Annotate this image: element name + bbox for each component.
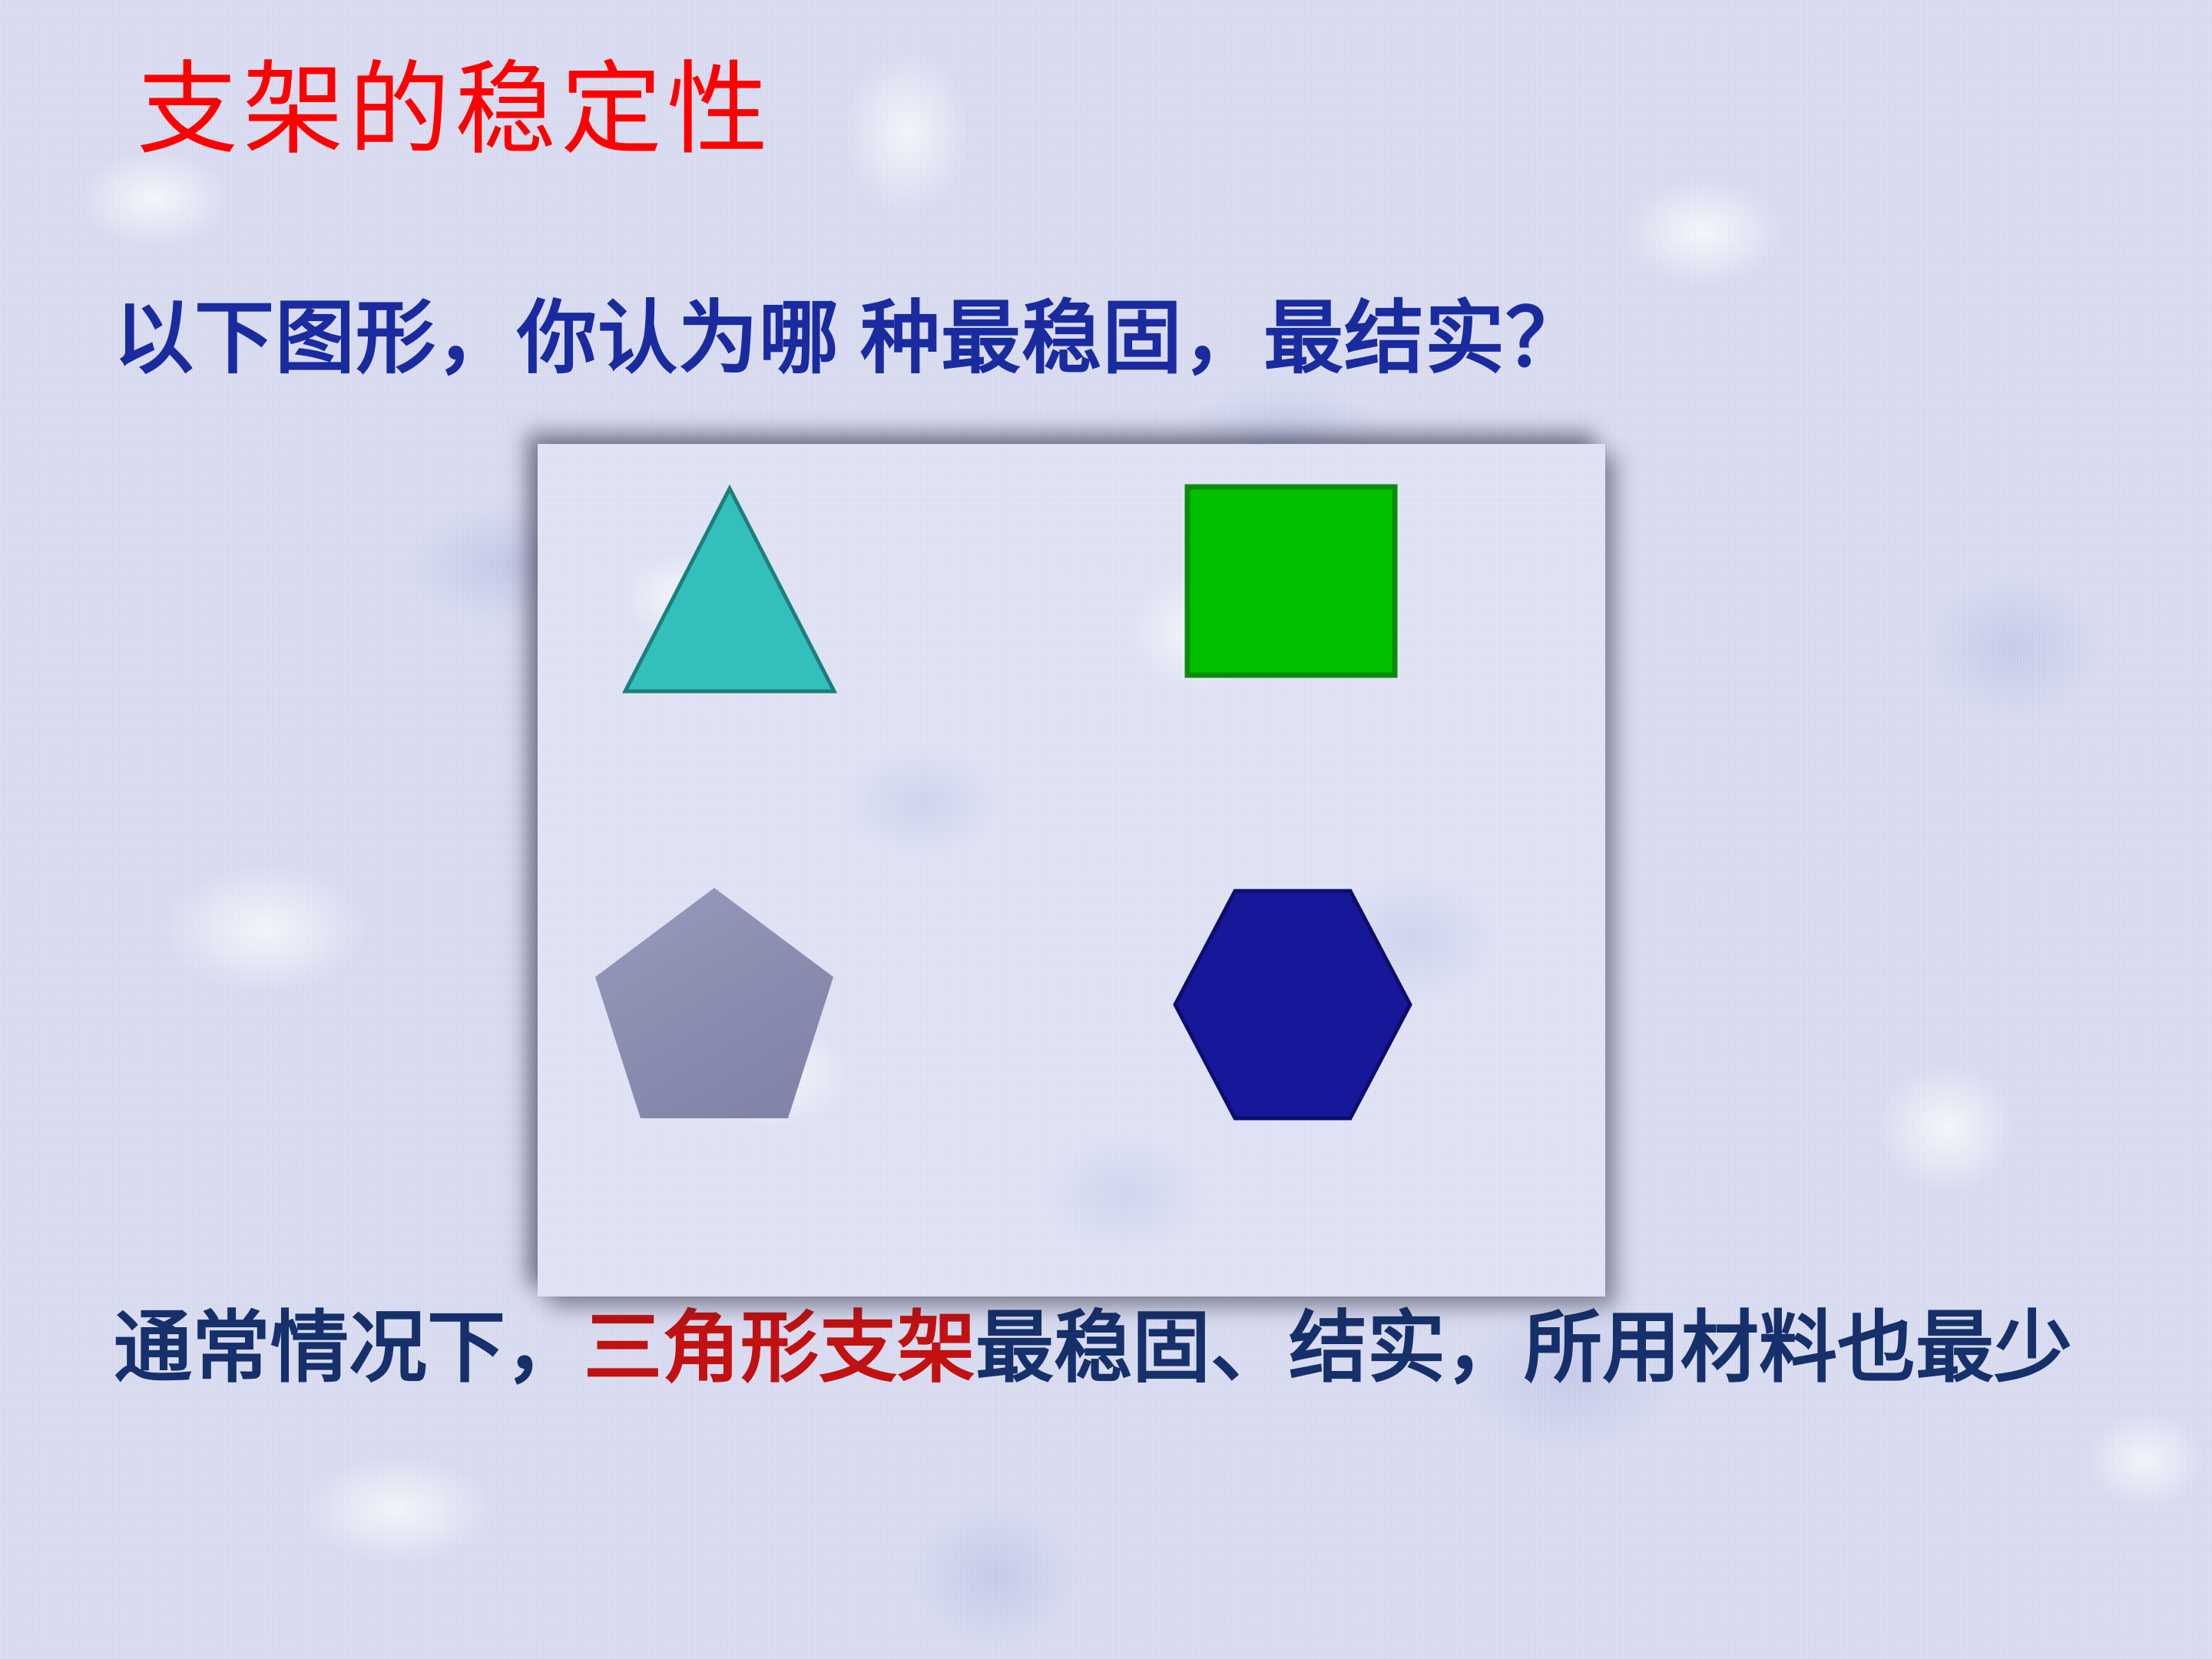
hexagon-shape — [1160, 874, 1421, 1135]
square-shape — [1183, 482, 1413, 713]
conclusion-part-2: 最稳固、结实，所用材料也最少 — [975, 1306, 2072, 1392]
shapes-panel — [538, 444, 1605, 1296]
page-title: 支架的稳定性 — [137, 60, 773, 161]
slide-canvas: 支架的稳定性 以下图形，你认为哪 种最稳固，最结实？ — [0, 0, 2212, 1659]
triangle-shape — [614, 475, 845, 705]
question-text: 以下图形，你认为哪 种最稳固，最结实？ — [114, 300, 1586, 379]
conclusion-part-1: 通常情况下， — [114, 1306, 584, 1392]
conclusion-highlight: 三角形支架 — [584, 1306, 975, 1392]
conclusion-text: 通常情况下，三角形支架最稳固、结实，所用材料也最少 — [114, 1306, 2141, 1393]
pentagon-shape — [584, 874, 845, 1135]
